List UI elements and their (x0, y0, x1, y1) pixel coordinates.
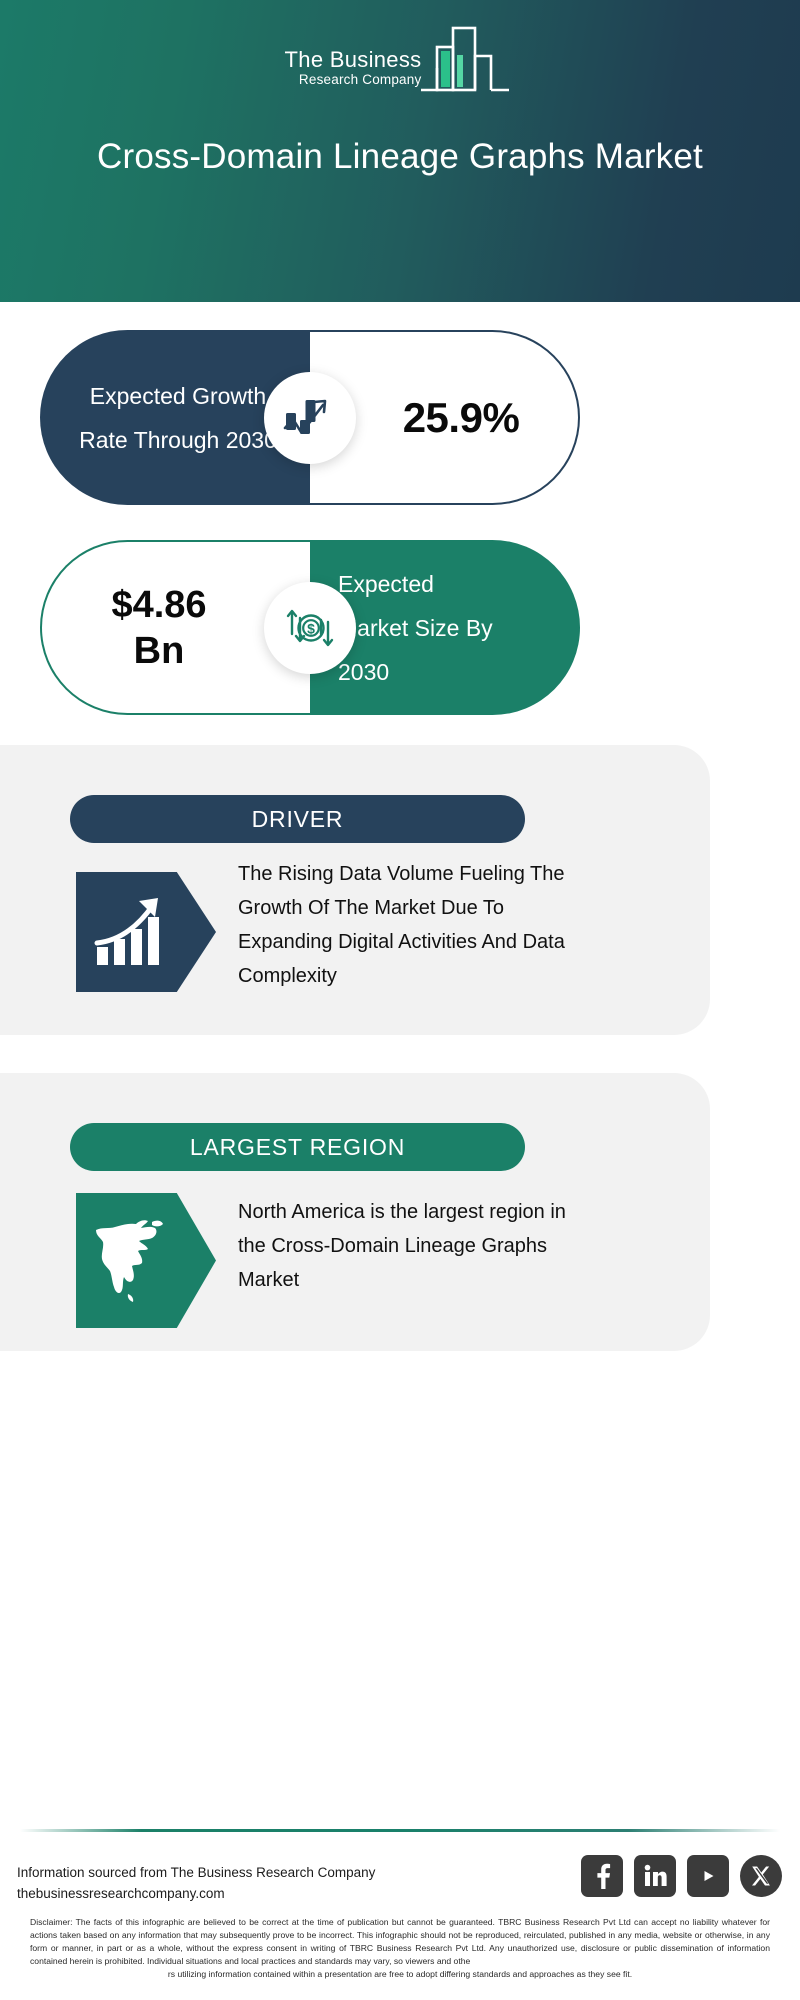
header-banner: The Business Research Company Cro (0, 0, 800, 302)
dollar-circulation-arrows-icon: $ (264, 582, 356, 674)
page-title: Cross-Domain Lineage Graphs Market (60, 132, 740, 181)
youtube-icon[interactable] (687, 1855, 729, 1897)
facebook-icon[interactable] (581, 1855, 623, 1897)
svg-text:$: $ (307, 620, 315, 636)
bar-chart-logo-icon (419, 22, 515, 94)
stat-card-market-size: $4.86 Bn Expected Market Size By 2030 $ (40, 540, 580, 715)
source-line-1: Information sourced from The Business Re… (17, 1862, 375, 1883)
north-america-map-icon (76, 1193, 216, 1328)
stat-card-growth-rate: Expected Growth Rate Through 2030 25.9% (40, 330, 580, 505)
logo-line-1: The Business (285, 48, 422, 72)
stat-card-growth-rate-value: 25.9% (369, 394, 520, 442)
infographic-page: The Business Research Company Cro (0, 0, 800, 2000)
x-twitter-icon[interactable] (740, 1855, 782, 1897)
source-website-link[interactable]: thebusinessresearchcompany.com (17, 1883, 375, 1904)
company-logo: The Business Research Company (0, 22, 800, 94)
social-links (581, 1855, 782, 1897)
disclaimer-lastline: rs utilizing information contained withi… (30, 1968, 770, 1981)
disclaimer-main: Disclaimer: The facts of this infographi… (30, 1917, 770, 1966)
disclaimer-text: Disclaimer: The facts of this infographi… (30, 1916, 770, 1981)
largest-region-pill-label: LARGEST REGION (70, 1123, 525, 1171)
driver-body-text: The Rising Data Volume Fueling The Growt… (238, 857, 583, 993)
source-attribution: Information sourced from The Business Re… (17, 1862, 375, 1904)
growth-bar-chart-arrow-icon (264, 372, 356, 464)
logo-line-2: Research Company (299, 72, 422, 88)
driver-panel: DRIVER The Rising Data Volume Fueling Th… (0, 745, 710, 1035)
linkedin-icon[interactable] (634, 1855, 676, 1897)
largest-region-panel: LARGEST REGION North America is the larg… (0, 1073, 710, 1351)
footer-divider (20, 1829, 780, 1832)
stat-card-market-size-value: $4.86 Bn (81, 582, 271, 674)
stat-card-growth-rate-label: Expected Growth Rate Through 2030 (60, 374, 290, 462)
rising-bar-chart-arrow-icon (76, 872, 216, 992)
largest-region-body-text: North America is the largest region in t… (238, 1195, 568, 1297)
logo-text-block: The Business Research Company (285, 48, 422, 94)
driver-pill-label: DRIVER (70, 795, 525, 843)
